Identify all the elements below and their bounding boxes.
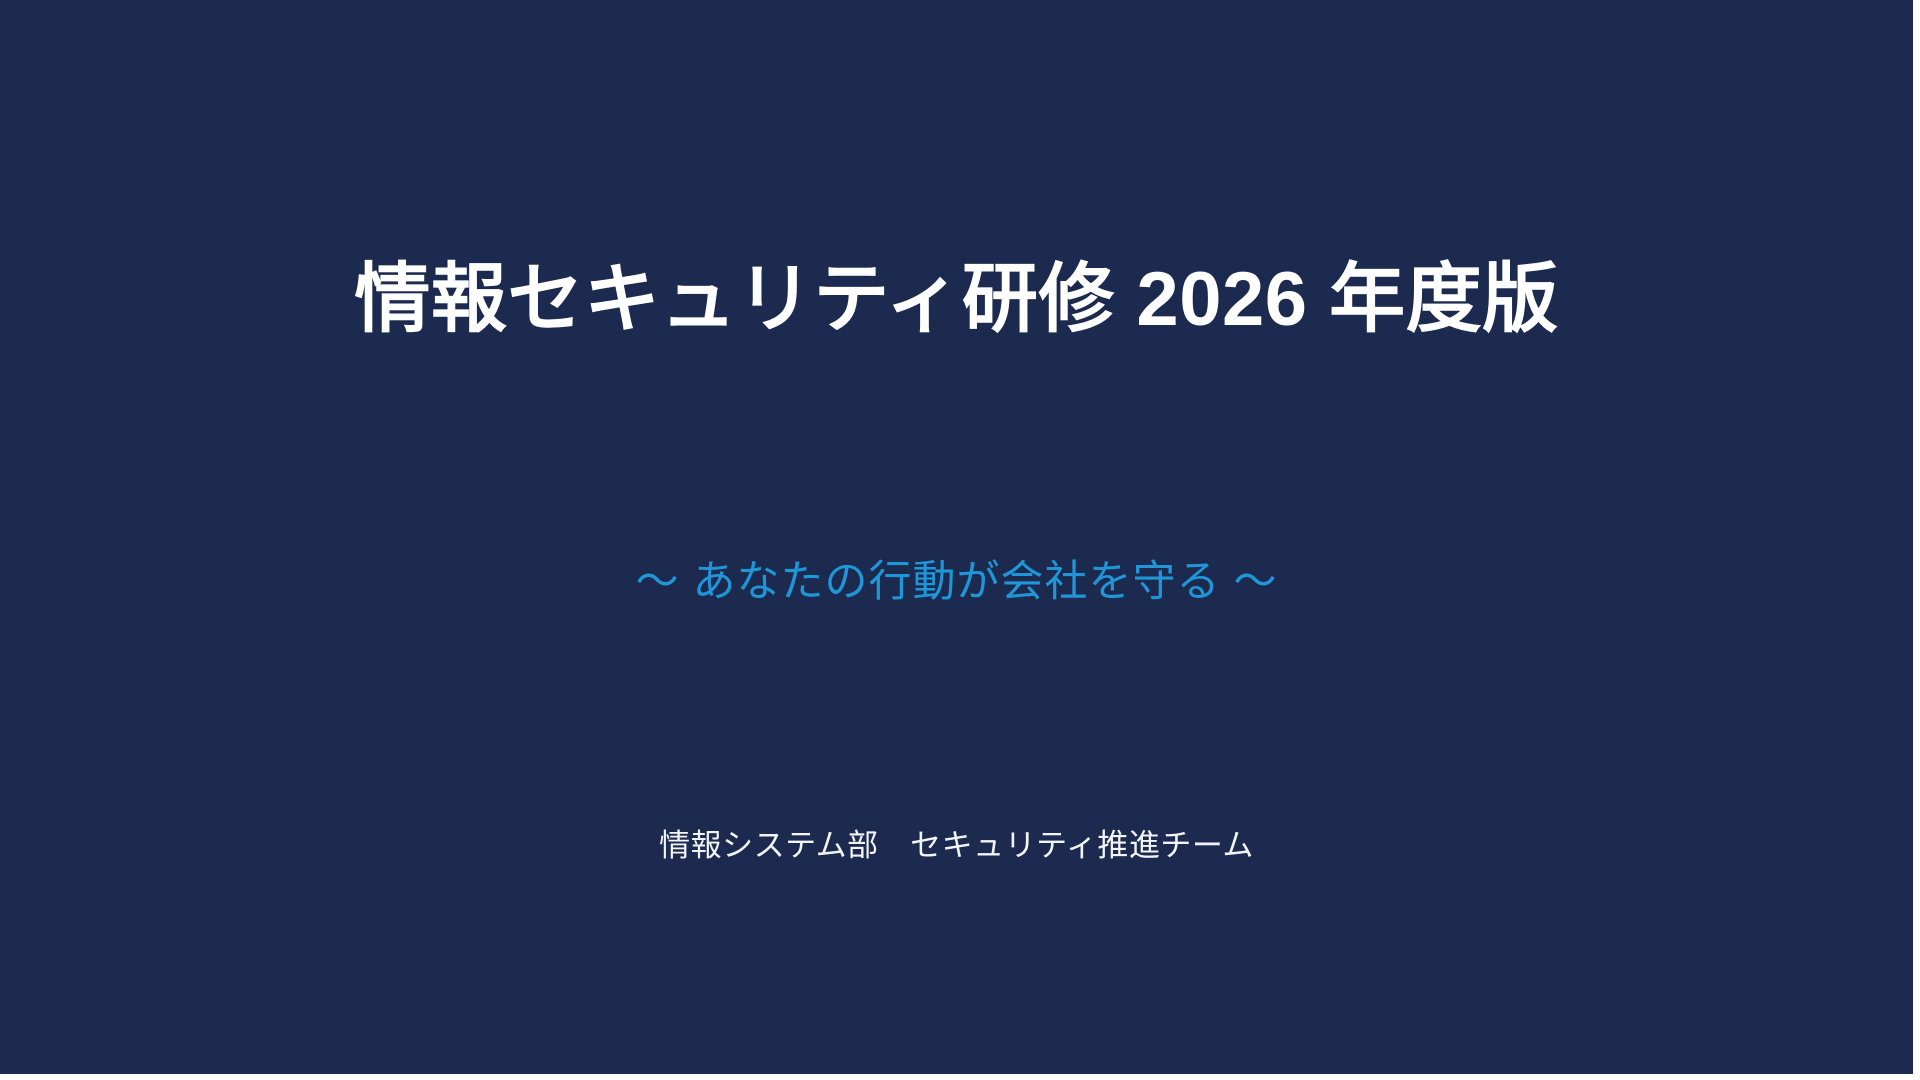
slide-footer-presenter: 情報システム部 セキュリティ推進チーム <box>0 827 1913 866</box>
slide-canvas: 情報セキュリティ研修 2026 年度版 〜 あなたの行動が会社を守る 〜 情報シ… <box>0 0 1913 1074</box>
slide-subtitle: 〜 あなたの行動が会社を守る 〜 <box>0 557 1913 609</box>
slide-content-stack: 情報セキュリティ研修 2026 年度版 〜 あなたの行動が会社を守る 〜 情報シ… <box>0 0 1913 1074</box>
slide-title: 情報セキュリティ研修 2026 年度版 <box>0 257 1913 342</box>
slide-root: 情報セキュリティ研修 2026 年度版 〜 あなたの行動が会社を守る 〜 情報シ… <box>0 0 1920 1080</box>
